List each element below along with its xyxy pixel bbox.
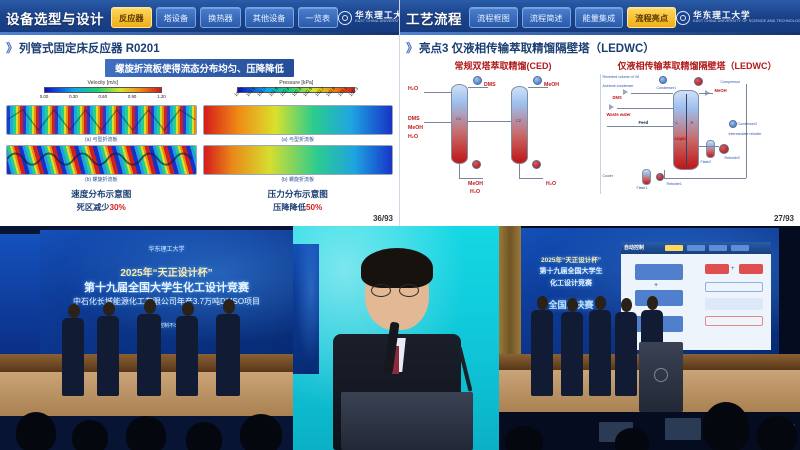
cfd-images-row-a: (a) 弓型折流板 (a) 弓型折流板 [6,105,393,143]
velocity-caption-a: (a) 弓型折流板 [6,136,197,143]
team-member-3-head [144,299,156,314]
podium [341,392,473,450]
ledwc-note-label: Reverted volume of V8 [603,75,640,79]
team-member-1-head [537,296,548,310]
ledwc-subtitle: 仅液相传输萃取精馏隔壁塔（LEDWC） [600,59,794,72]
ledwc-wastewater-label: Waste water [607,112,631,117]
team-member-4-head [182,302,194,316]
ledwc-condenser-1 [659,76,667,84]
right-slide-tabs: 流程框图 流程简述 能量集成 流程亮点 [469,7,676,28]
team-member-4 [176,316,198,396]
ced-line-bottom-1v [459,164,460,178]
side-banner-left [0,234,40,354]
podium-emblem-icon [654,368,668,382]
photo-team-on-stage-wide: 2025年“天正设计杯” 第十九届全国大学生化工设计竞赛 中石化长城能源化工有限… [0,226,293,450]
photo-stage-wide-with-judges: 2025年“天正设计杯” 第十九届全国大学生 化工设计竞赛 全国总决赛 自动控制 [499,226,800,450]
ledwc-line-wastewater [617,108,673,109]
ledwc-line-reb-v [664,170,665,178]
left-slide-header: 设备选型与设计 反应器 塔设备 换热器 其他设备 一览表 华东理工大学 EAST… [0,0,399,35]
ced-bottom-h2o-label: H₂O [470,189,480,195]
university-name-en: EAST CHINA UNIVERSITY OF SCIENCE AND TEC… [355,20,399,24]
projected-slide-header: 自动控制 [621,242,771,254]
team-member-3 [137,314,161,396]
team-member-2-head [103,302,115,316]
pressure-colorbar-ticks: 101.3 101.5 101.7 101.9 102.1 102.3 102.… [233,94,359,103]
ledwc-section-left-label: L [676,120,678,125]
velocity-result-title: 速度分布示意图 [6,188,197,200]
velocity-colorbar-label: Velocity [m/s] [87,80,118,86]
audience-head-1 [16,412,56,450]
ledwc-condenser2-label: Condenser2 [738,122,758,126]
ced-line-feed-in [424,122,451,123]
velocity-colorbar-gradient [44,87,162,93]
ced-column-c2 [511,86,528,164]
pressure-result: 压力分布示意图 压降降低50% [203,185,394,213]
ced-subtitle: 常规双塔萃取精馏(CED) [406,59,600,72]
team-member-3-head [595,296,606,310]
photo-presenter-closeup [293,226,499,450]
cfd-images-row-b: (b) 螺旋折流板 (b) 螺旋折流板 [6,145,393,183]
team-member-3 [589,310,611,396]
ledwc-line-feed [607,126,673,127]
left-slide-tabs: 反应器 塔设备 换热器 其他设备 一览表 [111,7,338,28]
audience-head-2 [72,420,108,450]
ledwc-line-recycle-v [746,84,747,178]
screen-line-1: 2025年“天正设计杯” [40,264,293,279]
ced-reboiler-2 [532,160,541,169]
left-slide-page-number: 36/93 [373,214,393,223]
projected-flow-box-1 [635,264,683,280]
velocity-case-b: (b) 螺旋折流板 [6,145,197,183]
tab-energy-integration[interactable]: 能量集成 [575,7,624,28]
team-member-4 [615,312,637,396]
pressure-result-value: 压降降低50% [203,201,394,213]
velocity-result-number: 30% [109,203,125,212]
chevron-right-icon: 》 [6,39,16,56]
team-member-5-head [223,299,235,314]
ledwc-reboiler-2 [719,144,729,154]
left-slide-header-title: 设备选型与设计 [6,8,104,28]
ced-line-c1-to-c2 [468,121,512,122]
pressure-contour-segmental [203,105,394,135]
ledwc-flash-2 [706,140,715,158]
ledwc-line-meoh [699,93,713,94]
ledwc-compressor-drum [694,77,703,86]
velocity-tick-0: 0.00 [40,94,49,99]
judge-head-3 [703,402,749,450]
ced-feed-meoh-label: MeOH [408,125,423,131]
pressure-colorbar: Pressure [kPa] 101.3 101.5 101.7 101.9 1… [200,80,394,103]
ledwc-line-recycle-h [664,178,746,179]
pressure-case-b: (b) 螺旋折流板 [203,145,394,183]
velocity-colorbar-ticks: 0.00 0.30 0.60 0.90 1.20 [40,94,166,99]
left-slide: 设备选型与设计 反应器 塔设备 换热器 其他设备 一览表 华东理工大学 EAST… [0,0,400,226]
projected-slide-title: 自动控制 [624,244,644,251]
velocity-contour-segmental [6,105,197,135]
ledwc-diagram: L R Liquid [601,74,795,194]
right-university-logo: 华东理工大学 EAST CHINA UNIVERSITY OF SCIENCE … [676,11,800,25]
ced-line-bottom-2h [519,178,543,179]
slides-region: 设备选型与设计 反应器 塔设备 换热器 其他设备 一览表 华东理工大学 EAST… [0,0,800,226]
pressure-result-prefix: 压降降低 [273,203,306,212]
left-slide-body: 》 列管式固定床反应器 R0201 螺旋折流板使得流态分布均匀、压降降低 Vel… [0,35,399,226]
audience-head-3 [126,416,166,450]
ledwc-flash-1 [642,169,651,185]
screen-line-3: 化工设计竞赛 [529,278,613,288]
team-member-2-head [567,298,578,312]
university-seal-icon [676,11,690,25]
tab-flow-description[interactable]: 流程简述 [522,7,571,28]
ledwc-splitter-icon-2 [609,104,614,110]
ced-dms-outlet-label: DMS [484,82,496,88]
ced-feed-dms-label: DMS [408,116,420,122]
audience-head-5 [240,414,282,450]
tab-flow-diagram[interactable]: 流程框图 [469,7,518,28]
ced-meoh-outlet-label: MeOH [544,82,559,88]
velocity-tick-1: 0.30 [69,94,78,99]
ledwc-liquid-label: Liquid [675,136,688,141]
team-member-1 [531,310,553,396]
screen-line-2: 第十九届全国大学生化工设计竞赛 [40,279,293,295]
ced-condenser-2 [533,76,542,85]
projected-outline-box [705,282,763,292]
ledwc-line-dms [631,93,673,94]
screen-line-2: 第十九届全国大学生 [529,266,613,276]
ced-bottom-meoh-label: MeOH [468,181,483,187]
tab-overview-list[interactable]: 一览表 [298,7,339,28]
pressure-caption-b: (b) 螺旋折流板 [203,176,394,183]
ledwc-reboiler2-label: Reboiler2 [725,156,740,160]
tab-heat-exchanger[interactable]: 换热器 [200,7,241,28]
university-name-en: EAST CHINA UNIVERSITY OF SCIENCE AND TEC… [693,20,800,24]
velocity-caption-b: (b) 螺旋折流板 [6,176,197,183]
right-slide-header-title: 工艺流程 [406,8,462,28]
ledwc-cooler-label: Cooler [603,174,614,178]
left-section-title-text: 列管式固定床反应器 R0201 [19,40,160,56]
flow-diagrams: C1 C2 [406,74,794,194]
ledwc-reboiler-1 [656,173,664,181]
right-section-title-text: 亮点3 仅液相传输萃取精馏隔壁塔（LEDWC） [419,40,655,56]
left-highlight-banner: 螺旋折流板使得流态分布均匀、压降降低 [105,59,294,77]
right-slide-page-number: 27/93 [774,214,794,223]
photo-strip: 2025年“天正设计杯” 第十九届全国大学生化工设计竞赛 中石化长城能源化工有限… [0,226,800,450]
ced-c1-label: C1 [456,116,461,121]
team-member-5 [216,314,240,396]
judge-head-1 [505,426,543,450]
helical-baffle-icon [7,146,196,174]
velocity-colorbar: Velocity [m/s] 0.00 0.30 0.60 0.90 1.20 [6,80,200,103]
judge-head-2 [615,428,649,450]
velocity-result: 速度分布示意图 死区减少30% [6,185,197,213]
team-member-1-head [68,304,80,318]
pressure-result-title: 压力分布示意图 [203,188,394,200]
ced-condenser-1 [473,76,482,85]
audience-head-4 [186,422,222,450]
pressure-case-a: (a) 弓型折流板 [203,105,394,143]
velocity-tick-3: 0.90 [128,94,137,99]
pressure-result-number: 50% [306,203,322,212]
projected-plus-icon-3: + [731,266,735,272]
pressure-caption-a: (a) 弓型折流板 [203,136,394,143]
presenter-at-podium-head [647,296,658,310]
right-section-title: 》 亮点3 仅液相传输萃取精馏隔壁塔（LEDWC） [406,39,794,56]
results-row: 速度分布示意图 死区减少30% 压力分布示意图 压降降低50% [6,185,393,213]
ced-h2o-inlet-label: H₂O [408,86,418,92]
team-member-2 [561,312,583,396]
projected-slide-tab-active [665,245,683,251]
presenter-side-screen [293,244,319,374]
projected-red-outline-box [705,316,763,326]
projected-red-box-2 [739,264,763,274]
ced-diagram: C1 C2 [406,74,601,194]
velocity-tick-2: 0.60 [98,94,107,99]
ledwc-condenser1-label: Condenser1 [657,86,677,90]
ledwc-dms-label: DMS [613,95,622,100]
tab-reactor[interactable]: 反应器 [111,7,152,28]
screen-line-1: 2025年“天正设计杯” [529,254,613,264]
tab-other-equipment[interactable]: 其他设备 [245,7,294,28]
baffle-outline-icon [7,106,196,134]
presentation-screenshot: 设备选型与设计 反应器 塔设备 换热器 其他设备 一览表 华东理工大学 EAST… [0,0,800,450]
velocity-contour-helical [6,145,197,175]
velocity-case-a: (a) 弓型折流板 [6,105,197,143]
ledwc-condenser-2 [729,120,737,128]
left-university-logo: 华东理工大学 EAST CHINA UNIVERSITY OF SCIENCE … [338,11,399,25]
ced-feed-h2o-label: H₂O [408,134,418,140]
ledwc-section-right-label: R [691,120,694,125]
ledwc-compressor-label: Compressor [721,80,741,84]
ledwc-dividing-wall [686,94,687,166]
ced-bottom-h2o-2-label: H₂O [546,181,556,187]
projected-chip-row [705,298,763,310]
judge-head-4 [757,416,797,450]
ledwc-reboiler1-label: Reboiler1 [667,182,682,186]
projected-slide-tab-4 [731,245,749,251]
presenter-glasses-right [399,284,419,297]
chevron-right-icon: 》 [406,39,416,56]
ced-line-bottom-2v [519,164,520,178]
right-slide-body: 》 亮点3 仅液相传输萃取精馏隔壁塔（LEDWC） 常规双塔萃取精馏(CED) … [400,35,800,226]
ledwc-splitter-icon-1 [623,89,628,95]
projected-plus-icon-1: + [654,282,658,289]
university-seal-icon [338,11,352,25]
ced-line-water-in [424,92,451,93]
velocity-tick-4: 1.20 [157,94,166,99]
projected-flow-box-2 [635,290,683,306]
right-slide-header: 工艺流程 流程框图 流程简述 能量集成 流程亮点 华东理工大学 EAST CHI… [400,0,800,35]
ledwc-feed-label: Feed [639,120,649,125]
flow-subtitles: 常规双塔萃取精馏(CED) 仅液相传输萃取精馏隔壁塔（LEDWC） [406,59,794,72]
team-member-4-head [621,298,632,312]
right-slide: 工艺流程 流程框图 流程简述 能量集成 流程亮点 华东理工大学 EAST CHI… [400,0,800,226]
ledwc-flash2-label: Flash2 [701,160,712,164]
team-member-1 [62,318,84,396]
presenter-hair [361,248,433,288]
projected-slide-tab-2 [687,245,705,251]
colorbar-row: Velocity [m/s] 0.00 0.30 0.60 0.90 1.20 … [6,80,393,103]
projected-slide-tab-3 [709,245,727,251]
ledwc-intermediate-reboiler-label: Intermediate reboiler [729,132,762,136]
pressure-contour-helical [203,145,394,175]
presenter-glasses-left [371,284,391,297]
ledwc-meoh-label: MeOH [715,88,727,93]
ced-reboiler-1 [472,160,481,169]
judge-laptop-2 [665,418,701,440]
tab-flow-highlights[interactable]: 流程亮点 [627,7,676,28]
ced-column-c1 [451,84,468,164]
team-member-2 [97,316,119,396]
ced-line-bottom-1h [459,178,483,179]
tab-tower-equipment[interactable]: 塔设备 [156,7,197,28]
ledwc-flash1-label: Flash1 [637,186,648,190]
ced-c2-label: C2 [516,118,521,123]
screen-university-logo-text: 华东理工大学 [40,244,293,253]
ledwc-line-bottom [699,146,719,147]
projected-red-box-1 [705,264,729,274]
velocity-result-prefix: 死区减少 [77,203,110,212]
velocity-result-value: 死区减少30% [6,201,197,213]
left-section-title: 》 列管式固定床反应器 R0201 [6,39,393,56]
ledwc-acetone-condenser-label: Acetone condenser [603,84,634,88]
